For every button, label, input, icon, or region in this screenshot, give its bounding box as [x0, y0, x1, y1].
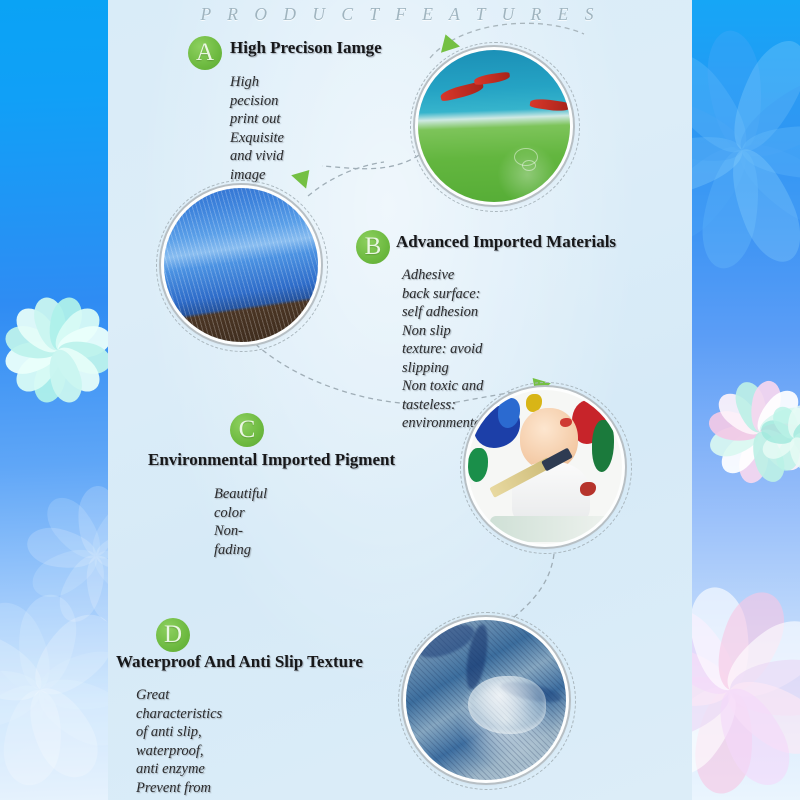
heading-b: Advanced Imported Materials [396, 232, 616, 252]
infographic-canvas: P R O D U C T F E A T U R E S A High Pre… [0, 0, 800, 800]
flower-petal [96, 544, 108, 622]
body-d: Great characteristics of anti slip, wate… [136, 686, 222, 800]
badge-c: C [230, 413, 264, 447]
main-panel: P R O D U C T F E A T U R E S A High Pre… [108, 0, 692, 800]
paint-splatter [592, 420, 614, 472]
ripple-shape [522, 160, 536, 171]
water-droplet [468, 676, 546, 734]
badge-a: A [188, 36, 222, 70]
photo-waterproof-surface [406, 620, 566, 780]
fish-shape [529, 97, 570, 112]
right-decorative-border [690, 0, 800, 800]
photo-blue-fabric [164, 188, 318, 342]
fish-shape [474, 72, 511, 86]
photo-pond-print [418, 50, 570, 202]
left-decorative-border [0, 0, 108, 800]
paint-splatter [580, 482, 596, 496]
heading-d: Waterproof And Anti Slip Texture [116, 652, 363, 672]
paint-splatter [468, 448, 488, 482]
photo-baby-painting [468, 390, 622, 544]
heading-a: High Precison Iamge [230, 38, 382, 58]
badge-d: D [156, 618, 190, 652]
badge-b: B [356, 230, 390, 264]
body-b: Adhesive back surface: self adhesion Non… [402, 266, 485, 433]
heading-c: Environmental Imported Pigment [148, 450, 395, 470]
body-c: Beautiful color Non-fading [214, 485, 267, 559]
paint-mat [490, 516, 610, 542]
